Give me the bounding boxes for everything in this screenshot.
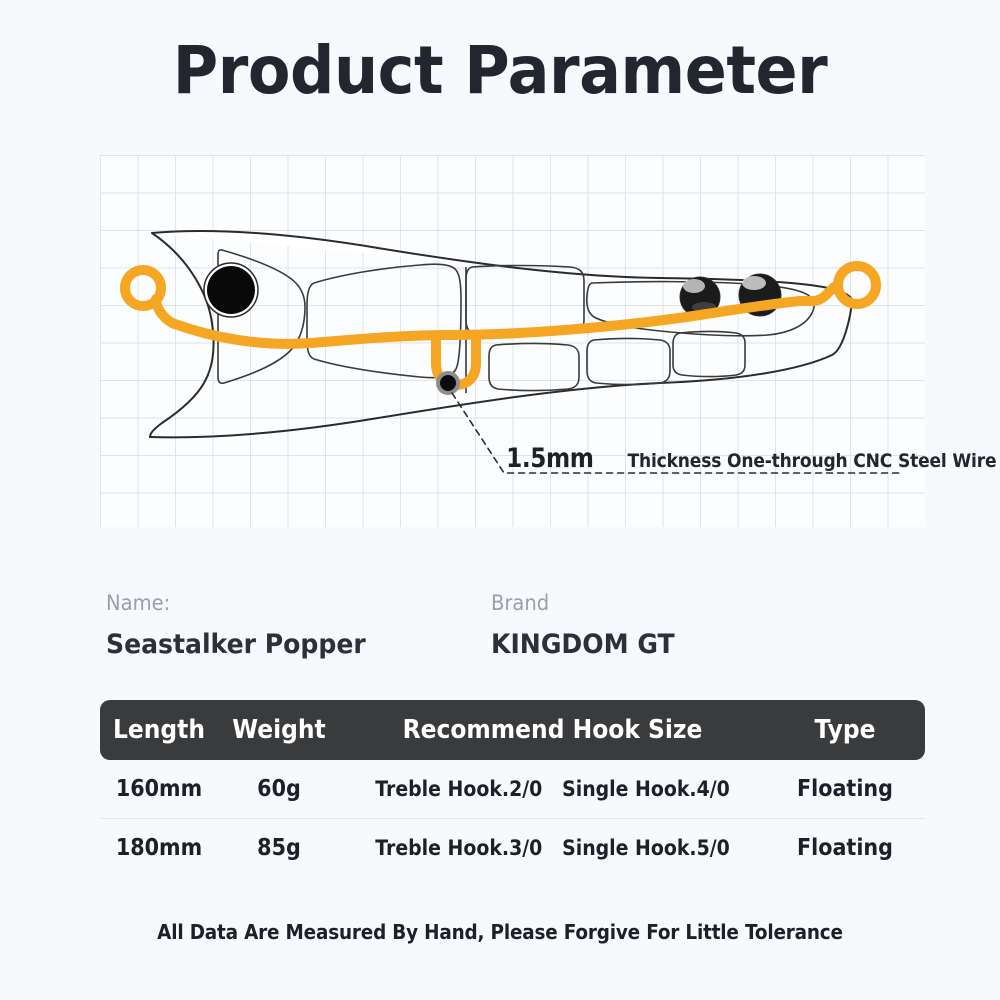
column-header-hook-size: Recommend Hook Size	[361, 715, 744, 745]
cell-type: Floating	[773, 835, 917, 861]
product-info-row: Name: Seastalker Popper Brand KINGDOM GT	[106, 590, 906, 662]
table-row: 160mm 60g Treble Hook.2/0 Single Hook.4/…	[100, 760, 925, 818]
spec-table-header: Length Weight Recommend Hook Size Type	[100, 700, 925, 760]
product-name-block: Name: Seastalker Popper	[106, 590, 491, 662]
page-title: Product Parameter	[30, 38, 970, 104]
product-parameter-page: Product Parameter	[0, 0, 1000, 1000]
cell-single-hook: Single Hook.5/0	[562, 836, 730, 860]
lure-eye	[204, 263, 258, 317]
column-header-weight: Weight	[224, 715, 334, 745]
callout-label: Thickness One-through CNC Steel Wire	[627, 450, 996, 472]
cell-single-hook: Single Hook.4/0	[562, 777, 730, 801]
cell-treble-hook: Treble Hook.2/0	[375, 777, 542, 801]
column-header-type: Type	[773, 715, 917, 745]
cell-hook-size: Treble Hook.3/0 Single Hook.5/0	[340, 836, 765, 860]
cell-length: 160mm	[106, 776, 212, 802]
cell-treble-hook: Treble Hook.3/0	[375, 836, 542, 860]
table-row: 180mm 85g Treble Hook.3/0 Single Hook.5/…	[100, 818, 925, 877]
product-name-label: Name:	[106, 590, 464, 616]
cell-type: Floating	[773, 776, 917, 802]
product-brand-block: Brand KINGDOM GT	[491, 590, 688, 662]
callout-anchor-point	[436, 371, 460, 395]
cell-weight: 60g	[224, 776, 334, 802]
cell-length: 180mm	[106, 835, 212, 861]
product-brand-value: KINGDOM GT	[491, 629, 675, 661]
column-header-length: Length	[106, 715, 212, 745]
front-tow-ring	[125, 270, 161, 306]
product-brand-label: Brand	[491, 590, 675, 616]
product-name-value: Seastalker Popper	[106, 629, 464, 661]
lure-internal-chambers	[218, 250, 814, 393]
spec-table: Length Weight Recommend Hook Size Type 1…	[100, 700, 925, 877]
callout-text: 1.5mm Thickness One-through CNC Steel Wi…	[499, 443, 1000, 474]
cell-hook-size: Treble Hook.2/0 Single Hook.4/0	[340, 777, 765, 801]
rear-tow-ring	[838, 266, 876, 304]
disclaimer-note: All Data Are Measured By Hand, Please Fo…	[40, 920, 960, 944]
cell-weight: 85g	[224, 835, 334, 861]
callout-value: 1.5mm	[506, 443, 593, 474]
